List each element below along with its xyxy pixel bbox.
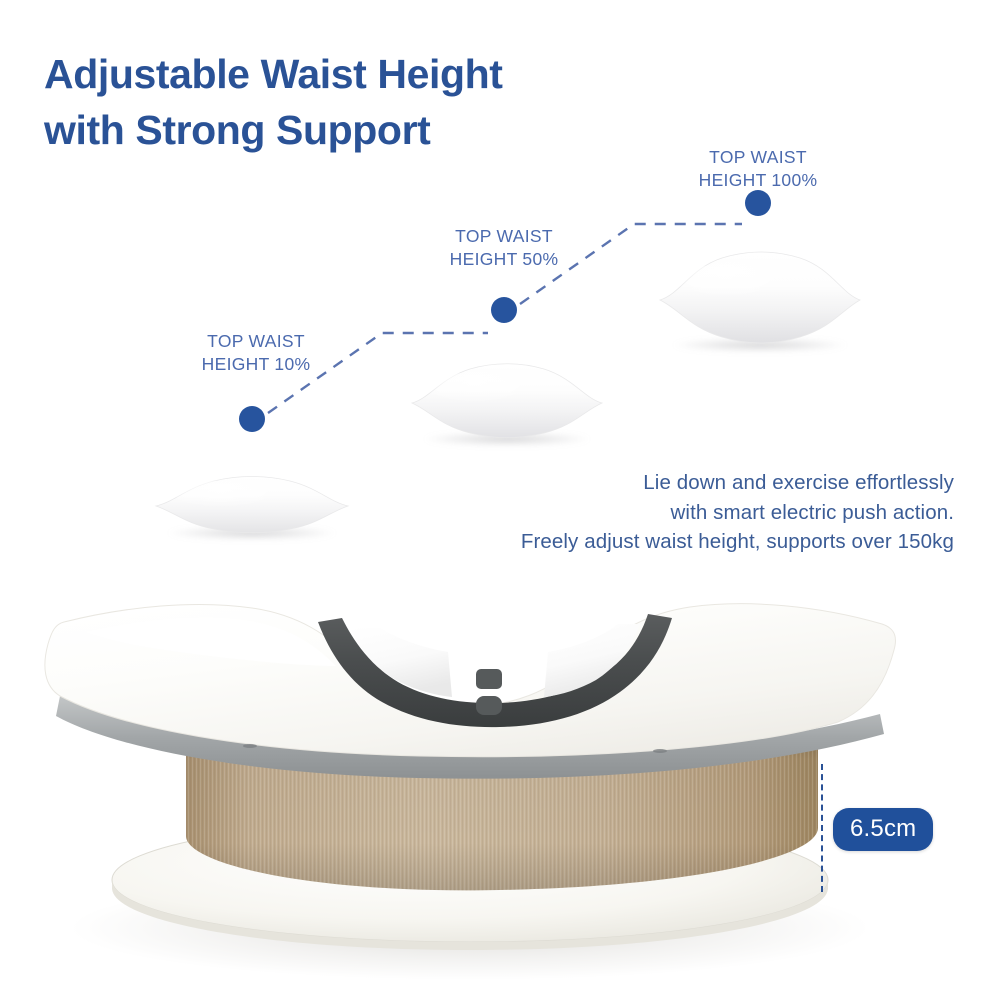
pillow-10-body	[152, 466, 352, 538]
pillow-50	[408, 358, 606, 444]
pillow-100	[656, 248, 864, 350]
pillow-50-body	[408, 358, 606, 444]
step-label-10-line-1: TOP WAIST	[196, 330, 316, 353]
description-line-2: with smart electric push action.	[374, 498, 954, 528]
product-button-upper	[476, 669, 502, 689]
step-dot-100[interactable]	[745, 190, 771, 216]
step-dot-50[interactable]	[491, 297, 517, 323]
page-title-line-1: Adjustable Waist Height	[44, 46, 664, 102]
step-label-50: TOP WAIST HEIGHT 50%	[444, 225, 564, 271]
product-illustration	[0, 588, 1000, 1000]
step-label-10-line-2: HEIGHT 10%	[196, 353, 316, 376]
product-seam-left	[243, 744, 257, 748]
description-text: Lie down and exercise effortlessly with …	[374, 468, 954, 557]
measure-badge: 6.5cm	[833, 808, 933, 851]
step-label-100-line-2: HEIGHT 100%	[694, 169, 822, 192]
pillow-100-body	[656, 248, 864, 350]
description-line-3: Freely adjust waist height, supports ove…	[374, 527, 954, 557]
description-line-1: Lie down and exercise effortlessly	[374, 468, 954, 498]
step-label-50-line-1: TOP WAIST	[444, 225, 564, 248]
step-label-10: TOP WAIST HEIGHT 10%	[196, 330, 316, 376]
pillow-10	[152, 466, 352, 538]
step-label-50-line-2: HEIGHT 50%	[444, 248, 564, 271]
product-button-lower	[476, 696, 502, 715]
step-label-100: TOP WAIST HEIGHT 100%	[694, 146, 822, 192]
product-seam-right	[653, 749, 667, 753]
step-dot-10[interactable]	[239, 406, 265, 432]
step-label-100-line-1: TOP WAIST	[694, 146, 822, 169]
measure-dashed-line	[821, 764, 823, 892]
product-image	[0, 588, 1000, 1000]
